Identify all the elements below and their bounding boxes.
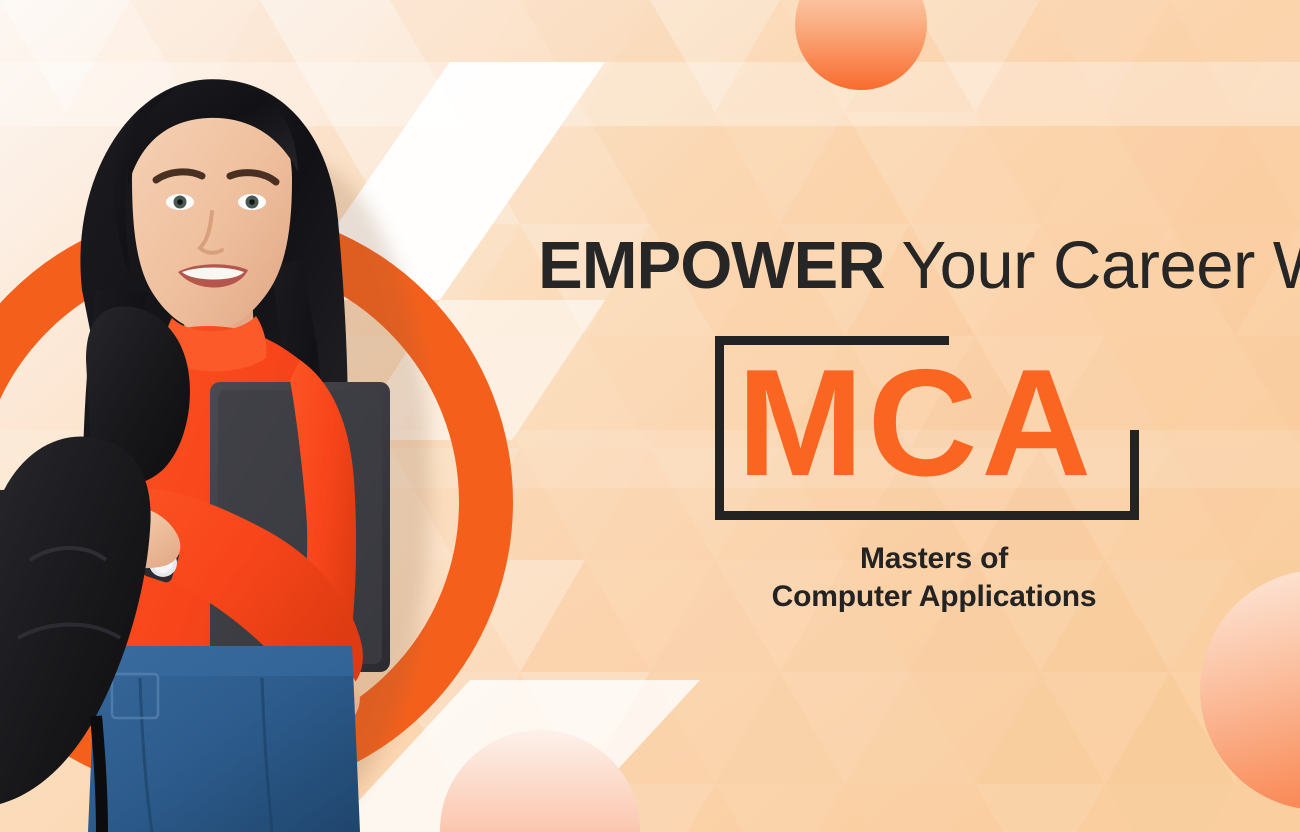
acronym-text: MCA: [737, 347, 1137, 499]
frame-left-bar: [715, 336, 724, 520]
subtitle-line-2: Computer Applications: [660, 578, 1208, 616]
frame-bottom-bar: [715, 511, 1139, 520]
subtitle-line-1: Masters of: [660, 540, 1208, 578]
page-title: EMPOWER Your Career With: [538, 232, 1300, 299]
student-photo: [0, 60, 470, 832]
headline-rest: Your Career With: [885, 228, 1300, 303]
subtitle: Masters of Computer Applications: [660, 540, 1208, 617]
headline-emphasis: EMPOWER: [538, 228, 885, 303]
promo-banner: EMPOWER Your Career With MCA Masters of …: [0, 0, 1300, 832]
acronym-block: MCA: [713, 336, 1141, 520]
